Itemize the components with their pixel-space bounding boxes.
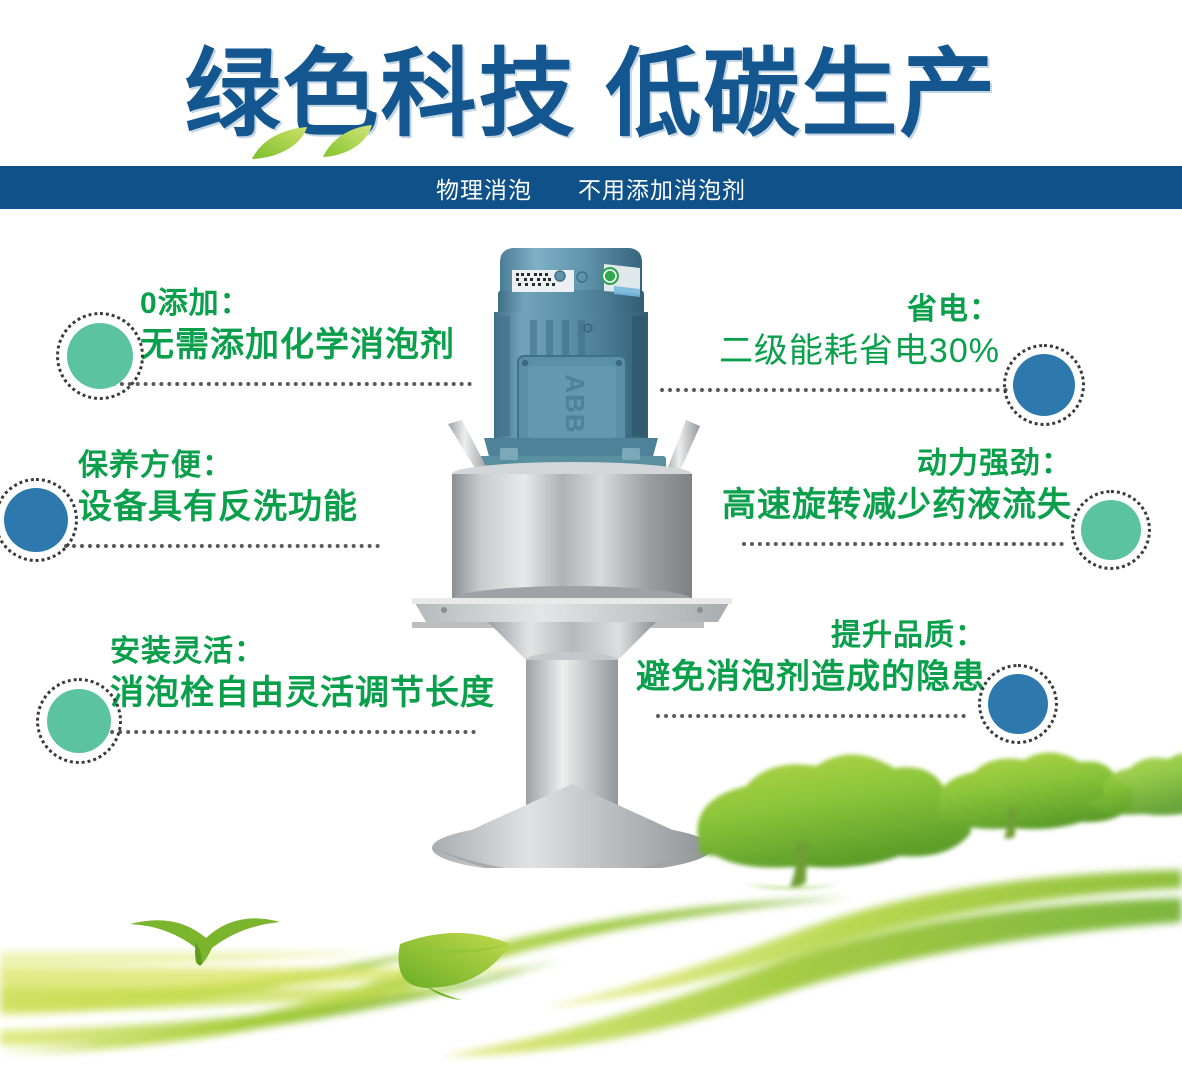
feature-body: 高速旋转减少药液流失 (722, 486, 1072, 524)
connector-line (656, 714, 966, 718)
feature-zero-additive: 0添加： 无需添加化学消泡剂 (0, 280, 520, 400)
feature-marker-blue (0, 478, 78, 562)
feature-head: 保养方便： (78, 449, 233, 482)
feature-body: 避免消泡剂造成的隐患 (636, 658, 986, 696)
connector-line (64, 544, 380, 548)
feature-marker-blue (1003, 344, 1085, 426)
feature-quality-boost: 提升品质： 避免消泡剂造成的隐患 (600, 612, 1070, 742)
feature-marker-green (1071, 490, 1151, 570)
connector-line (660, 388, 1008, 392)
feature-body: 设备具有反洗功能 (78, 488, 358, 526)
feature-marker-green (56, 312, 144, 400)
feature-marker-green (36, 678, 122, 764)
connector-line (742, 542, 1064, 546)
subtitle-left: 物理消泡 (436, 171, 532, 205)
page-title: 绿色科技 低碳生产 (0, 40, 1182, 150)
connector-line (86, 730, 476, 734)
connector-line (112, 382, 472, 386)
feature-marker-blue (978, 664, 1058, 744)
subtitle-bar: 物理消泡 不用添加消泡剂 (0, 166, 1182, 209)
subtitle-right: 不用添加消泡剂 (578, 171, 746, 205)
feature-power-saving: 省电： 二级能耗省电30% (660, 288, 1182, 414)
feature-head: 提升品质： (626, 618, 986, 654)
feature-body: 二级能耗省电30% (719, 332, 1000, 370)
feature-easy-maintenance: 保养方便： 设备具有反洗功能 (0, 440, 480, 560)
feature-head: 省电： (660, 292, 1000, 328)
feature-flexible-install: 安装灵活： 消泡栓自由灵活调节长度 (0, 630, 520, 760)
feature-strong-power: 动力强劲： 高速旋转减少药液流失 (690, 440, 1182, 570)
header: 绿色科技 低碳生产 (0, 0, 1182, 166)
leaf-icon (398, 933, 510, 1000)
promo-banner: 绿色科技 低碳生产 物理消泡 不用添加消泡剂 (0, 0, 1182, 1068)
feature-body: 无需添加化学消泡剂 (140, 326, 455, 364)
bird-icon (130, 918, 280, 965)
svg-text:ABB: ABB (560, 374, 590, 433)
feature-head: 动力强劲： (712, 446, 1072, 482)
feature-head: 安装灵活： (110, 635, 265, 668)
feature-body: 消泡栓自由灵活调节长度 (110, 674, 495, 712)
feature-head: 0添加： (140, 287, 251, 320)
